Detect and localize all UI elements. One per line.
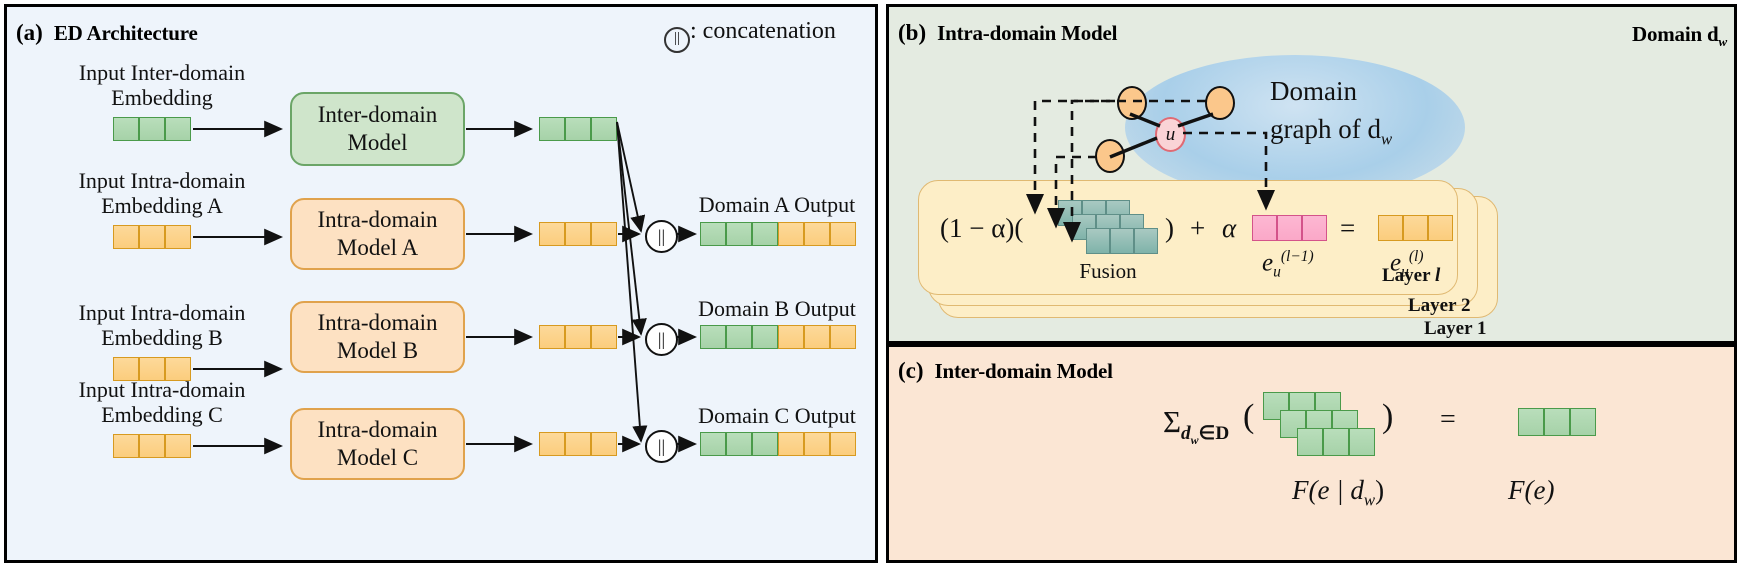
input-label-line1: Input Intra-domain	[79, 377, 246, 402]
model-box-inter-domain[interactable]: Inter-domain Model	[290, 92, 465, 166]
input-label-line2: Embedding C	[101, 402, 223, 427]
sum-operator: Σdw∈D	[1163, 404, 1229, 448]
concat-node-a[interactable]: ||	[645, 220, 678, 253]
panel-b-domain-label: Domain dw	[1632, 22, 1727, 50]
inter-stack-front	[1297, 428, 1375, 456]
fusion-stack-front	[1086, 228, 1158, 254]
graph-node-2	[1205, 86, 1235, 120]
vector-cell	[139, 117, 165, 141]
vector-cell	[1277, 215, 1302, 241]
out-embedding-label: eu(l)	[1390, 248, 1424, 281]
graph-node-1	[1117, 86, 1147, 120]
e-sup: (l−1)	[1281, 248, 1314, 265]
vector-cell	[591, 325, 617, 349]
vector-cell	[804, 222, 830, 246]
domain-graph-caption: Domain graph of dw	[1270, 72, 1392, 158]
vector-cell	[1378, 215, 1403, 241]
panel-a-tag: (a)	[16, 20, 43, 45]
stack-caption-end: )	[1375, 475, 1384, 505]
out-embedding-vector	[1378, 215, 1453, 241]
vector-cell	[1428, 215, 1453, 241]
vector-cell	[830, 325, 856, 349]
e-sup: (l)	[1409, 248, 1424, 265]
panel-c-equals: =	[1440, 404, 1456, 436]
vector-cell	[539, 222, 565, 246]
vector-cell	[113, 434, 139, 458]
output-label-b: Domain B Output	[692, 296, 862, 321]
model-box-intra-a[interactable]: Intra-domain Model A	[290, 198, 465, 270]
vector-cell	[565, 117, 591, 141]
vector-cell	[830, 432, 856, 456]
stack-caption-text: F(e | d	[1292, 475, 1364, 505]
vector-cell	[1134, 228, 1158, 254]
vector-cell	[804, 325, 830, 349]
output-vector-b	[700, 325, 856, 349]
vector-cell	[830, 222, 856, 246]
vector-cell	[113, 117, 139, 141]
input-label-line1: Input Intra-domain	[79, 168, 246, 193]
vector-cell	[1349, 428, 1375, 456]
vector-cell	[139, 434, 165, 458]
vector-cell	[565, 325, 591, 349]
vector-cell	[1544, 408, 1570, 436]
mid-vector-intra-c	[539, 432, 617, 456]
vector-cell	[1518, 408, 1544, 436]
formula-plus: +	[1190, 213, 1205, 244]
vector-cell	[591, 222, 617, 246]
vector-cell	[1570, 408, 1596, 436]
vector-cell	[165, 117, 191, 141]
input-label-line1: Input Intra-domain	[79, 300, 246, 325]
vector-cell	[1323, 428, 1349, 456]
sum-open-paren: (	[1243, 398, 1254, 436]
vector-cell	[1403, 215, 1428, 241]
mid-vector-inter-domain	[539, 117, 617, 141]
prev-embedding-vector	[1252, 215, 1327, 241]
model-box-intra-c[interactable]: Intra-domain Model C	[290, 408, 465, 480]
e-sub: u	[1401, 263, 1409, 280]
model-line1: Intra-domain	[317, 417, 437, 442]
vector-cell	[565, 432, 591, 456]
e-symbol: e	[1262, 249, 1273, 276]
caption-line1: Domain	[1270, 76, 1357, 106]
fusion-label: Fusion	[1063, 259, 1153, 284]
vector-cell	[752, 325, 778, 349]
layer-label-1: Layer 1	[1424, 318, 1486, 340]
model-line1: Intra-domain	[317, 310, 437, 335]
model-line1: Intra-domain	[317, 207, 437, 232]
vector-cell	[1302, 215, 1327, 241]
model-line2: Model C	[337, 445, 418, 470]
model-line1: Inter-domain	[318, 102, 438, 127]
inter-result-vector	[1518, 408, 1596, 436]
figure-root: (a) ED Architecture ||: concatenation In…	[0, 0, 1741, 567]
input-vector-intra-a	[113, 225, 191, 249]
panel-b-title: (b) Intra-domain Model	[898, 20, 1117, 46]
output-vector-c	[700, 432, 856, 456]
mid-vector-intra-a	[539, 222, 617, 246]
vector-cell	[1252, 215, 1277, 241]
sum-close-paren: )	[1382, 398, 1393, 436]
formula-alpha: α	[1222, 213, 1236, 244]
input-label-line2: Embedding B	[101, 325, 223, 350]
concatenation-legend: ||: concatenation	[664, 18, 836, 49]
vector-cell	[778, 325, 804, 349]
caption-sub: w	[1381, 129, 1392, 148]
panel-c-title-text: Inter-domain Model	[935, 359, 1113, 383]
vector-cell	[752, 222, 778, 246]
concat-node-c[interactable]: ||	[645, 430, 678, 463]
formula-left-coef: (1 − α)(	[940, 213, 1023, 244]
vector-cell	[113, 225, 139, 249]
vector-cell	[778, 222, 804, 246]
vector-cell	[700, 325, 726, 349]
model-line2: Model B	[337, 338, 418, 363]
concat-legend-icon: ||	[664, 27, 690, 53]
vector-cell	[752, 432, 778, 456]
caption-line2: graph of d	[1270, 114, 1381, 144]
graph-node-3	[1095, 139, 1125, 173]
sigma-icon: Σ	[1163, 404, 1181, 439]
vector-cell	[1086, 228, 1110, 254]
vector-cell	[726, 432, 752, 456]
vector-cell	[165, 225, 191, 249]
vector-cell	[1297, 428, 1323, 456]
formula-close-paren: )	[1165, 213, 1174, 244]
vector-cell	[1110, 228, 1134, 254]
stack-caption: F(e | dw)	[1292, 475, 1384, 510]
result-caption: F(e)	[1508, 475, 1554, 506]
concat-legend-text: : concatenation	[690, 18, 836, 44]
input-vector-intra-c	[113, 434, 191, 458]
domain-label-text: Domain d	[1632, 22, 1719, 46]
vector-cell	[700, 432, 726, 456]
mid-vector-intra-b	[539, 325, 617, 349]
panel-c-tag: (c)	[898, 358, 924, 383]
formula-equals: =	[1340, 213, 1355, 244]
output-label-c: Domain C Output	[692, 403, 862, 428]
node-u-label: u	[1166, 124, 1176, 146]
panel-c-title: (c) Inter-domain Model	[898, 358, 1113, 384]
sum-sub-w: w	[1191, 433, 1199, 447]
panel-b-tag: (b)	[898, 20, 926, 45]
input-label-inter-domain: Input Inter-domain Embedding	[72, 60, 252, 110]
vector-cell	[591, 432, 617, 456]
e-sub: u	[1273, 263, 1281, 280]
vector-cell	[539, 325, 565, 349]
model-line2: Model A	[337, 235, 418, 260]
domain-label-sub: w	[1719, 34, 1727, 49]
model-box-intra-b[interactable]: Intra-domain Model B	[290, 301, 465, 373]
panel-b-title-text: Intra-domain Model	[937, 21, 1117, 45]
input-label-line2: Embedding	[111, 85, 212, 110]
vector-cell	[165, 434, 191, 458]
output-label-a: Domain A Output	[692, 192, 862, 217]
graph-node-u: u	[1155, 117, 1186, 152]
input-label-intra-b: Input Intra-domain Embedding B	[72, 300, 252, 350]
input-label-line1: Input Inter-domain	[79, 60, 245, 85]
sum-sub-in-D: ∈D	[1199, 423, 1230, 444]
model-line2: Model	[347, 130, 407, 155]
layer-label-2: Layer 2	[1408, 295, 1470, 317]
vector-cell	[726, 325, 752, 349]
panel-a-title-text: ED Architecture	[54, 21, 198, 45]
vector-cell	[804, 432, 830, 456]
vector-cell	[139, 225, 165, 249]
vector-cell	[565, 222, 591, 246]
prev-embedding-label: eu(l−1)	[1262, 248, 1314, 281]
input-label-intra-a: Input Intra-domain Embedding A	[72, 168, 252, 218]
vector-cell	[700, 222, 726, 246]
sum-sub-d: d	[1181, 423, 1191, 444]
concat-node-b[interactable]: ||	[645, 323, 678, 356]
stack-caption-sub: w	[1364, 490, 1375, 509]
vector-cell	[591, 117, 617, 141]
input-label-intra-c: Input Intra-domain Embedding C	[72, 377, 252, 427]
vector-cell	[778, 432, 804, 456]
vector-cell	[539, 432, 565, 456]
vector-cell	[726, 222, 752, 246]
e-symbol: e	[1390, 249, 1401, 276]
vector-cell	[539, 117, 565, 141]
input-vector-inter-domain	[113, 117, 191, 141]
panel-a-title: (a) ED Architecture	[16, 20, 198, 46]
input-label-line2: Embedding A	[101, 193, 223, 218]
output-vector-a	[700, 222, 856, 246]
